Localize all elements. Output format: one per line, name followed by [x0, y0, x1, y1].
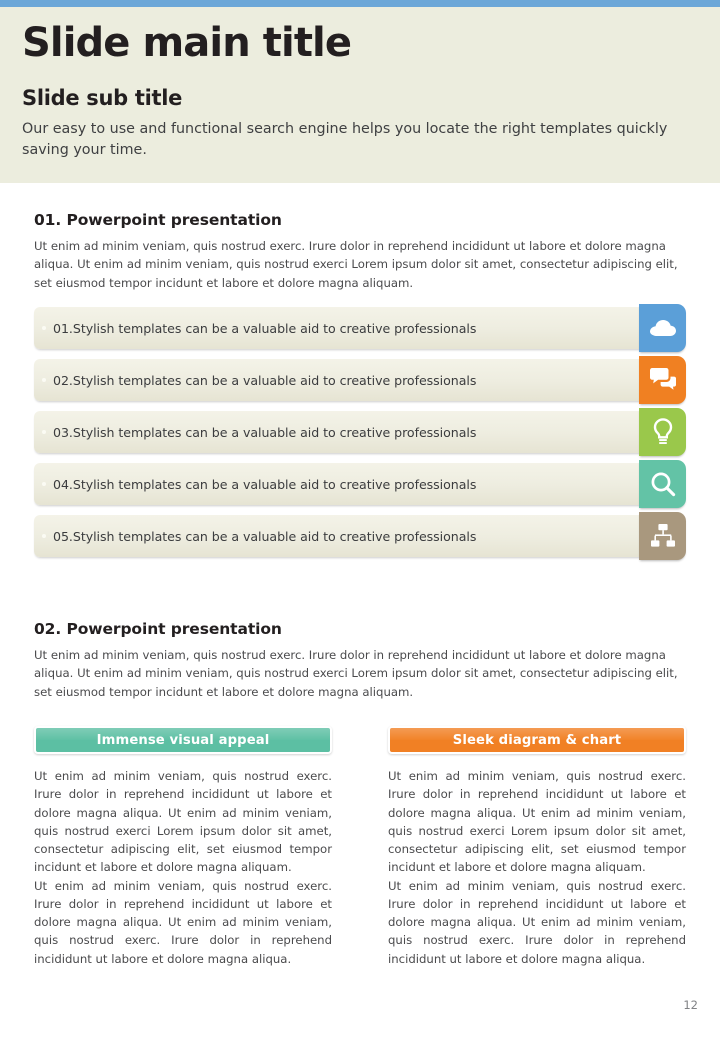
search-icon — [650, 471, 676, 497]
list-item-bar[interactable]: 03.Stylish templates can be a valuable a… — [34, 411, 648, 453]
list-item[interactable]: 05.Stylish templates can be a valuable a… — [34, 515, 686, 557]
page-title: Slide main title — [22, 21, 698, 66]
section-01: 01. Powerpoint presentation Ut enim ad m… — [34, 211, 689, 292]
column-right-heading-label: Sleek diagram & chart — [453, 733, 621, 748]
list-item-label: 02.Stylish templates can be a valuable a… — [53, 373, 476, 388]
two-column-area: Immense visual appeal Ut enim ad minim v… — [34, 726, 686, 968]
cloud-icon — [650, 319, 676, 337]
list-item-bar[interactable]: 01.Stylish templates can be a valuable a… — [34, 307, 648, 349]
list-item-label: 01.Stylish templates can be a valuable a… — [53, 321, 476, 336]
column-right-heading: Sleek diagram & chart — [388, 726, 686, 754]
column-right: Sleek diagram & chart Ut enim ad minim v… — [388, 726, 686, 968]
lightbulb-icon — [653, 418, 673, 446]
column-left: Immense visual appeal Ut enim ad minim v… — [34, 726, 332, 968]
slide-root: Slide main title Slide sub title Our eas… — [0, 0, 720, 1040]
bullet-dot-icon — [42, 482, 46, 486]
section-01-body: Ut enim ad minim veniam, quis nostrud ex… — [34, 237, 689, 292]
column-right-body: Ut enim ad minim veniam, quis nostrud ex… — [388, 767, 686, 968]
lightbulb-icon-tile[interactable] — [639, 408, 686, 456]
paragraph: Ut enim ad minim veniam, quis nostrud ex… — [388, 877, 686, 968]
list-item[interactable]: 03.Stylish templates can be a valuable a… — [34, 411, 686, 453]
paragraph: Ut enim ad minim veniam, quis nostrud ex… — [34, 877, 332, 968]
list-item-bar[interactable]: 05.Stylish templates can be a valuable a… — [34, 515, 648, 557]
section-02-body: Ut enim ad minim veniam, quis nostrud ex… — [34, 646, 689, 701]
list-item-label: 05.Stylish templates can be a valuable a… — [53, 529, 476, 544]
section-02: 02. Powerpoint presentation Ut enim ad m… — [34, 620, 689, 701]
search-icon-tile[interactable] — [639, 460, 686, 508]
list-item[interactable]: 02.Stylish templates can be a valuable a… — [34, 359, 686, 401]
list-item-bar[interactable]: 04.Stylish templates can be a valuable a… — [34, 463, 648, 505]
org-chart-icon — [650, 523, 676, 549]
paragraph: Ut enim ad minim veniam, quis nostrud ex… — [34, 767, 332, 877]
column-left-body: Ut enim ad minim veniam, quis nostrud ex… — [34, 767, 332, 968]
chat-bubbles-icon-tile[interactable] — [639, 356, 686, 404]
bullet-dot-icon — [42, 534, 46, 538]
feature-list: 01.Stylish templates can be a valuable a… — [34, 307, 686, 567]
chat-bubbles-icon — [650, 368, 676, 392]
list-item-label: 03.Stylish templates can be a valuable a… — [53, 425, 476, 440]
column-left-heading-label: Immense visual appeal — [97, 733, 270, 748]
list-item-label: 04.Stylish templates can be a valuable a… — [53, 477, 476, 492]
paragraph: Ut enim ad minim veniam, quis nostrud ex… — [388, 767, 686, 877]
page-subtitle: Slide sub title — [22, 86, 698, 110]
slide-header: Slide main title Slide sub title Our eas… — [0, 7, 720, 183]
section-02-title: 02. Powerpoint presentation — [34, 620, 689, 638]
header-description: Our easy to use and functional search en… — [22, 119, 682, 162]
list-item-bar[interactable]: 02.Stylish templates can be a valuable a… — [34, 359, 648, 401]
list-item[interactable]: 04.Stylish templates can be a valuable a… — [34, 463, 686, 505]
page-number: 12 — [683, 998, 698, 1012]
section-01-title: 01. Powerpoint presentation — [34, 211, 689, 229]
bullet-dot-icon — [42, 430, 46, 434]
bullet-dot-icon — [42, 326, 46, 330]
bullet-dot-icon — [42, 378, 46, 382]
org-chart-icon-tile[interactable] — [639, 512, 686, 560]
column-left-heading: Immense visual appeal — [34, 726, 332, 754]
top-accent-bar — [0, 0, 720, 7]
list-item[interactable]: 01.Stylish templates can be a valuable a… — [34, 307, 686, 349]
cloud-icon-tile[interactable] — [639, 304, 686, 352]
